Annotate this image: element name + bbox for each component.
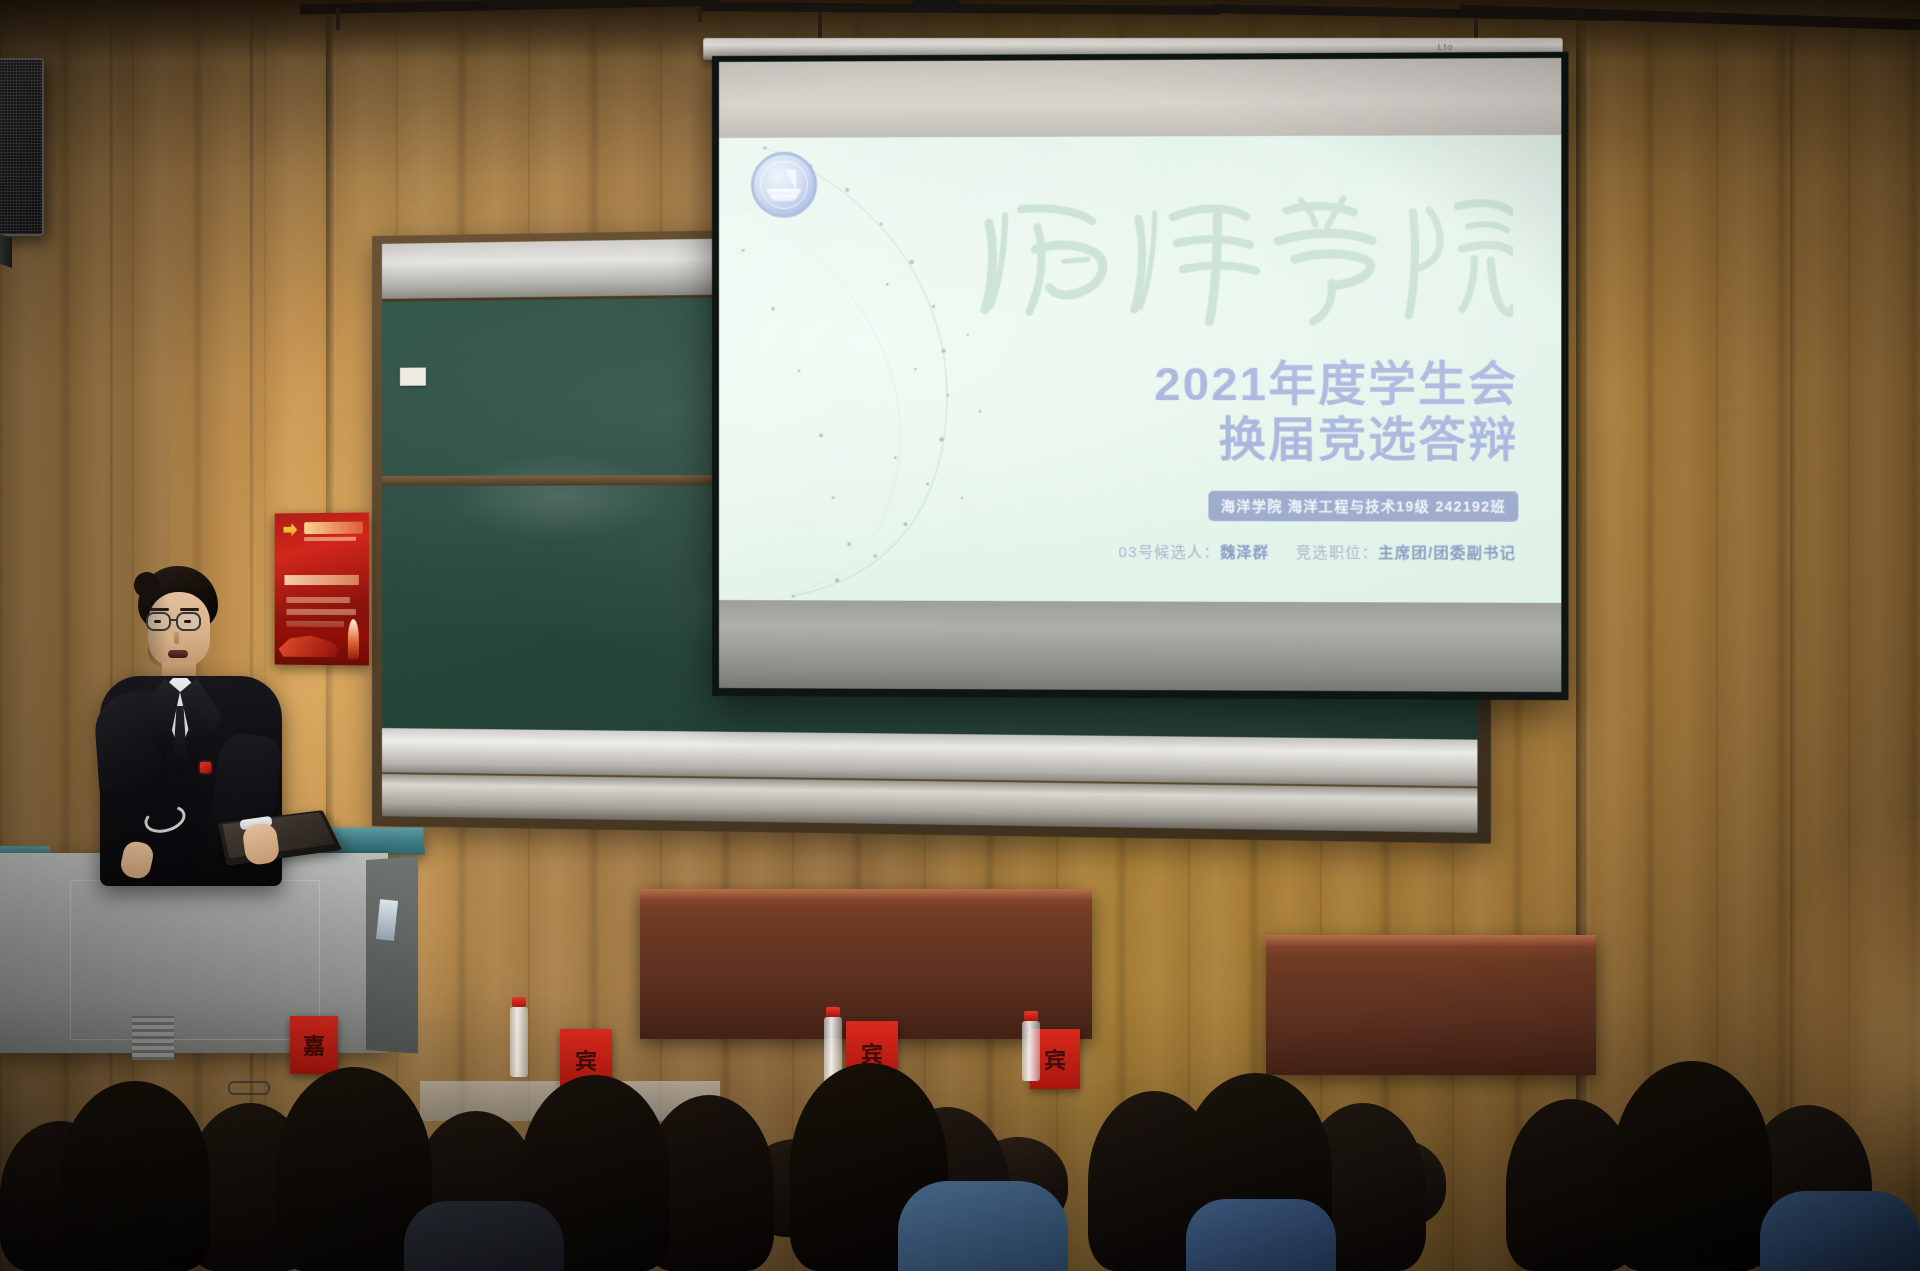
position-value: 主席团/团委副书记: [1378, 545, 1516, 563]
wall-speaker-icon: [0, 58, 44, 236]
audience-shoulder: [898, 1181, 1068, 1271]
presenter-brow: [150, 608, 169, 611]
college-emblem-icon: [751, 152, 817, 218]
screen-blank-band: [719, 58, 1561, 138]
presenter-brow: [180, 608, 199, 611]
wooden-bench: [1266, 935, 1596, 1075]
headline-line-1: 2021年度学生会: [990, 356, 1518, 412]
presenter-mouth: [168, 650, 188, 658]
bottle-cap: [512, 997, 526, 1007]
poster-title-bar: [304, 522, 363, 535]
headline-line-2: 换届竞选答辩: [990, 412, 1518, 468]
audience-shoulder: [1760, 1191, 1920, 1271]
presenter-eye: [184, 620, 191, 623]
presenter-figure: [96, 566, 286, 886]
lecture-hall-photo: Lto: [0, 0, 1920, 1271]
presenter-nose: [174, 632, 179, 644]
speaker-mount-bracket: [0, 234, 12, 268]
audience-head: [1612, 1061, 1772, 1271]
audience-area: 嘉 宾 宾 宾: [0, 911, 1920, 1271]
poster-rocket-graphic: [348, 619, 359, 659]
ceiling-fixture: [912, 0, 960, 8]
projection-screen: 2021年度学生会 换届竞选答辩 海洋学院 海洋工程与技术19级 242192班…: [712, 52, 1568, 700]
party-emblem-icon: [283, 523, 297, 536]
calligraphy-title: [975, 186, 1513, 328]
audience-eyeglasses-icon: [228, 1081, 270, 1095]
candidate-info-line: 03号候选人：魏泽群 竞选职位：主席团/团委副书记: [1119, 541, 1517, 563]
housing-label: Lto: [1438, 42, 1454, 52]
poster-text-row: [286, 597, 349, 603]
slide-headline: 2021年度学生会 换届竞选答辩: [990, 356, 1518, 468]
bench-top-edge: [1266, 935, 1596, 947]
water-bottle: [1022, 1021, 1040, 1081]
bottle-cap: [826, 1007, 840, 1017]
class-info-pill: 海洋学院 海洋工程与技术19级 242192班: [1209, 491, 1519, 522]
ceiling-hook: [698, 6, 702, 22]
audience-shoulder: [1186, 1199, 1336, 1271]
party-lapel-badge-icon: [200, 762, 211, 773]
poster-subtitle-bar: [304, 537, 356, 541]
bench-top-edge: [640, 889, 1092, 901]
presentation-slide: 2021年度学生会 换届竞选答辩 海洋学院 海洋工程与技术19级 242192班…: [719, 135, 1561, 603]
position-label: 竞选职位：: [1296, 544, 1379, 561]
audience-shoulder: [404, 1201, 564, 1271]
bottle-cap: [1024, 1011, 1038, 1021]
water-bottle: [510, 1007, 528, 1077]
name-placard: 嘉: [290, 1016, 338, 1074]
paper-note: [400, 368, 426, 386]
ceiling-hook: [336, 8, 340, 30]
eyeglasses-bridge: [171, 619, 176, 621]
candidate-label: 03号候选人：: [1119, 544, 1220, 561]
party-poster: [275, 513, 369, 666]
candidate-name: 魏泽群: [1220, 544, 1269, 561]
audience-head: [60, 1081, 210, 1271]
poster-headline-bar: [284, 575, 358, 585]
presenter-eye: [154, 620, 161, 623]
screen-foot-band: [719, 600, 1561, 692]
